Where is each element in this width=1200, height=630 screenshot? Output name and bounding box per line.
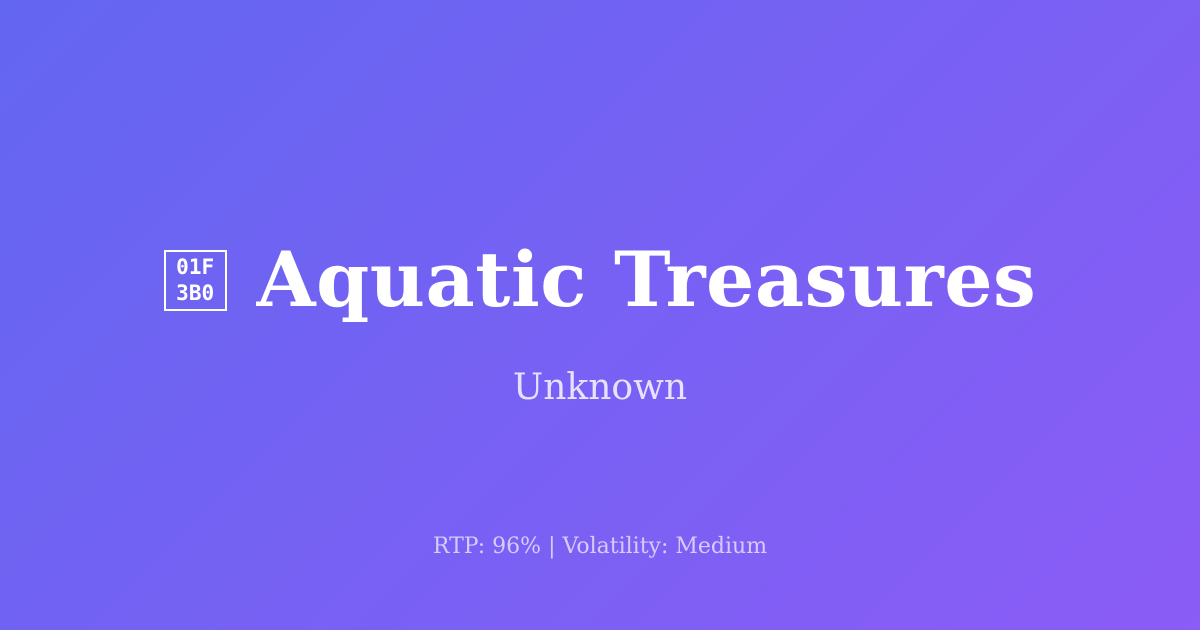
slot-machine-icon: 01F 3B0: [164, 250, 227, 311]
slot-machine-icon-codepoint-top: 01F: [176, 254, 214, 280]
game-meta-line: RTP: 96% | Volatility: Medium: [0, 536, 1200, 558]
page-title: Aquatic Treasures: [257, 242, 1037, 318]
slot-machine-icon-codepoint-bottom: 3B0: [176, 280, 214, 306]
game-preview-card: 01F 3B0 Aquatic Treasures Unknown RTP: 9…: [0, 0, 1200, 630]
game-provider-subtitle: Unknown: [513, 318, 687, 406]
title-row: 01F 3B0 Aquatic Treasures: [164, 242, 1037, 318]
